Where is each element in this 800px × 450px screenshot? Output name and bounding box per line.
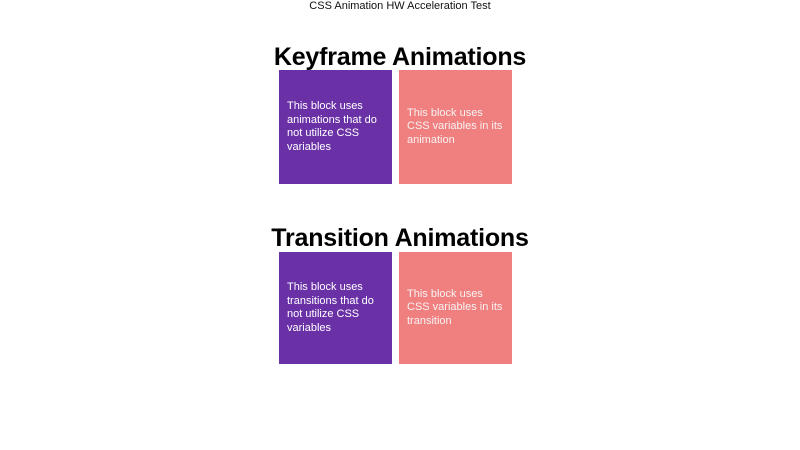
section-heading-transition-animations: Transition Animations [0,224,800,253]
keyframe-block-with-css-variables[interactable]: This block uses CSS variables in its ani… [399,70,512,184]
keyframe-block-with-css-variables-label: This block uses CSS variables in its ani… [407,107,504,148]
transition-block-with-css-variables-label: This block uses CSS variables in its tra… [407,288,504,329]
keyframe-animation-block-row: This block uses animations that do not u… [279,70,512,184]
transition-block-with-css-variables[interactable]: This block uses CSS variables in its tra… [399,252,512,364]
page-title: CSS Animation HW Acceleration Test [0,0,800,13]
transition-animation-block-row: This block uses transitions that do not … [279,252,512,364]
keyframe-block-no-css-variables-label: This block uses animations that do not u… [287,100,384,154]
transition-block-no-css-variables-label: This block uses transitions that do not … [287,281,384,335]
transition-block-no-css-variables[interactable]: This block uses transitions that do not … [279,252,392,364]
keyframe-block-no-css-variables[interactable]: This block uses animations that do not u… [279,70,392,184]
section-heading-keyframe-animations: Keyframe Animations [0,43,800,72]
page-root: CSS Animation HW Acceleration Test Keyfr… [0,0,800,450]
